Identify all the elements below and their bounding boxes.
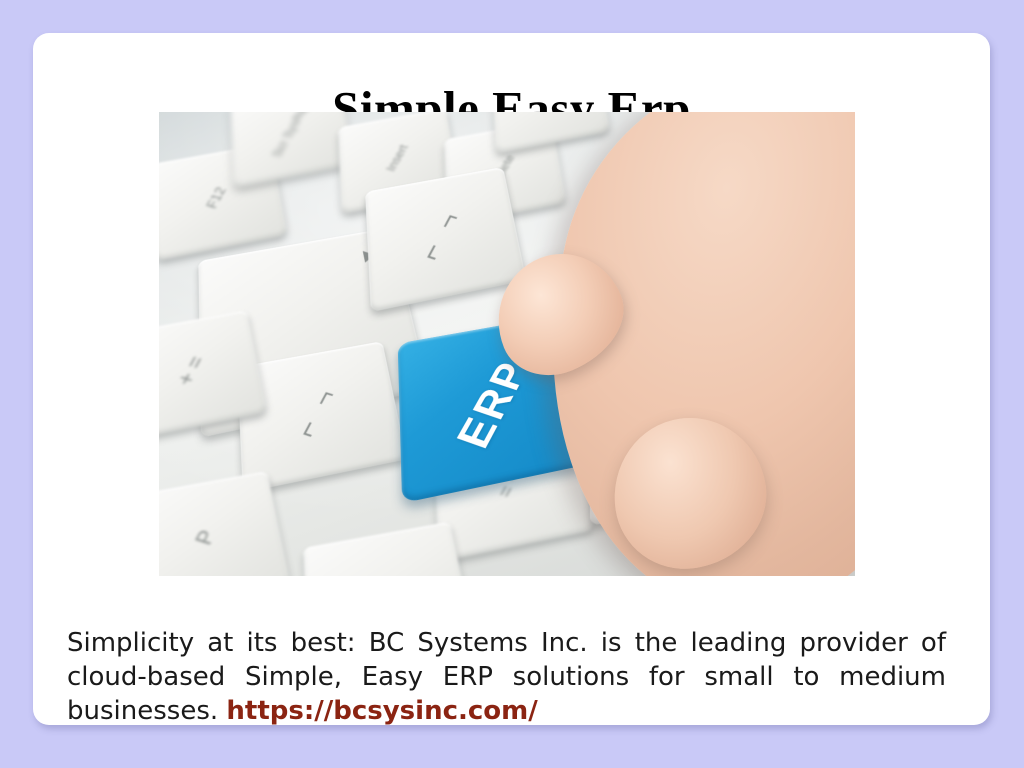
slide-card: Simple Easy Erp F12 Scr SysRq Insert Del…	[33, 33, 990, 725]
key-label: ⌐ ¬	[414, 206, 468, 264]
key-label: F12	[204, 186, 229, 211]
key-label: ⌐ ¬	[290, 383, 344, 441]
key-label: Scr SysRq	[270, 112, 309, 159]
key-label: + =	[172, 354, 209, 389]
company-url[interactable]: https://bcsysinc.com/	[226, 696, 537, 725]
body-paragraph: Simplicity at its best: BC Systems Inc. …	[67, 626, 946, 725]
keyboard-photo: F12 Scr SysRq Insert Delete End ⌐ ¬	[159, 112, 855, 576]
slide-stage: Simple Easy Erp F12 Scr SysRq Insert Del…	[0, 0, 1024, 768]
key-label: Insert	[384, 144, 410, 173]
key-label: P	[191, 528, 220, 548]
